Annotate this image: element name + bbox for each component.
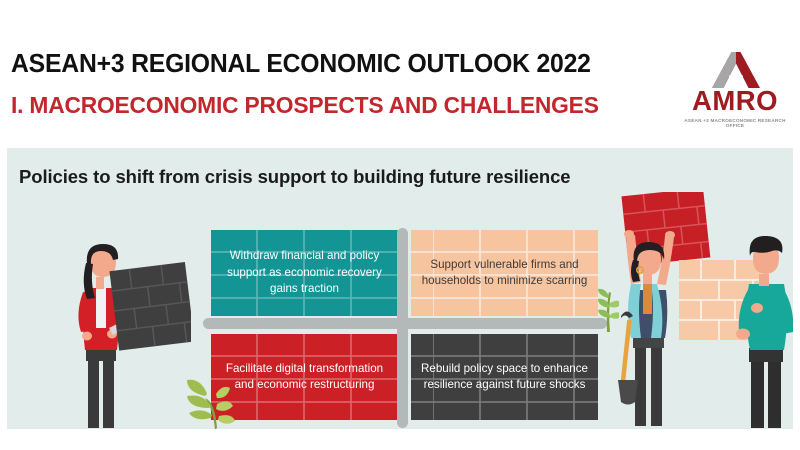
amro-logo: AMRO ASEAN +3 MACROECONOMIC RESEARCH OFF… xyxy=(676,52,794,136)
page-subtitle: I. MACROECONOMIC PROSPECTS AND CHALLENGE… xyxy=(11,92,599,119)
amro-tagline: ASEAN +3 MACROECONOMIC RESEARCH OFFICE xyxy=(676,118,794,128)
strategy-box-top-right-label: Support vulnerable firms and households … xyxy=(411,257,598,290)
worker-man-carrying-peach-panel-illustration xyxy=(679,236,793,429)
amro-a-mark-icon xyxy=(712,52,760,88)
worker-woman-red-jacket-illustration xyxy=(63,244,191,429)
strategy-box-top-right[interactable]: Support vulnerable firms and households … xyxy=(411,230,598,316)
strategy-box-top-left-label: Withdraw financial and policy support as… xyxy=(211,248,398,298)
amro-wordmark: AMRO xyxy=(676,86,794,116)
plant-sprig-middle-icon xyxy=(593,286,619,332)
page-header: ASEAN+3 REGIONAL ECONOMIC OUTLOOK 2022 I… xyxy=(0,0,800,148)
panel-heading: Policies to shift from crisis support to… xyxy=(19,166,570,188)
horizontal-beam xyxy=(203,318,607,329)
strategy-box-bottom-right-label: Rebuild policy space to enhance resilien… xyxy=(411,361,598,394)
content-panel: Policies to shift from crisis support to… xyxy=(7,148,793,429)
strategy-box-bottom-right[interactable]: Rebuild policy space to enhance resilien… xyxy=(411,334,598,420)
page-title: ASEAN+3 REGIONAL ECONOMIC OUTLOOK 2022 xyxy=(11,50,591,79)
plant-leaves-left-icon xyxy=(185,368,243,429)
strategy-box-top-left[interactable]: Withdraw financial and policy support as… xyxy=(211,230,398,316)
